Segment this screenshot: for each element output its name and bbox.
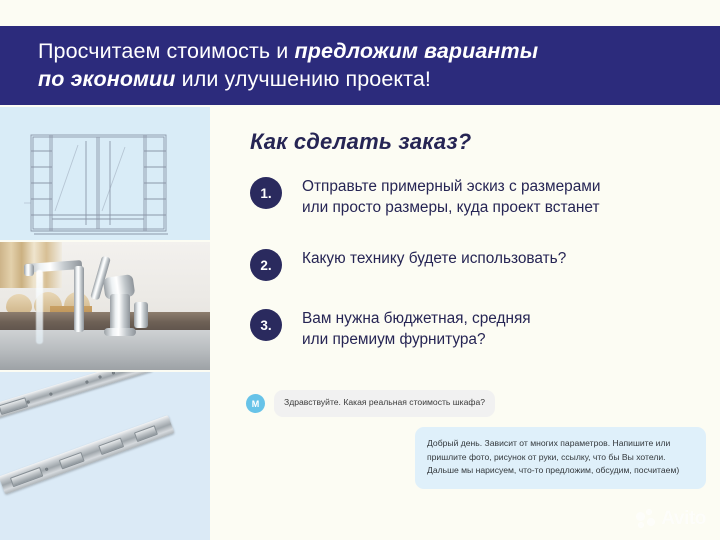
chat-conversation: M Здравствуйте. Какая реальная стоимость… (246, 390, 706, 489)
slide-canvas: Просчитаем стоимость и предложим вариант… (0, 0, 720, 540)
banner-line1-plain: Просчитаем стоимость и (38, 39, 294, 63)
chat-message-incoming: M Здравствуйте. Какая реальная стоимость… (246, 390, 706, 417)
banner-headline: Просчитаем стоимость и предложим вариант… (0, 38, 698, 93)
faucet-spout-tip (24, 264, 34, 276)
avatar: M (246, 394, 265, 413)
photo-drawer-slides (0, 372, 210, 540)
content-panel: Как сделать заказ? 1. Отправьте примерны… (210, 107, 720, 540)
faucet-side-outlet (134, 302, 148, 328)
photo-kitchen-faucet (0, 242, 210, 370)
drawer-slide-front (0, 415, 174, 494)
faucet-column (74, 266, 84, 332)
faucet-sink-basin (0, 330, 210, 370)
step-number-badge-3: 3. (250, 309, 282, 341)
banner-line1-bold: предложим варианты (294, 39, 538, 63)
banner-line2-plain: или улучшению проекта! (176, 67, 431, 91)
chat-bubble-outgoing: Добрый день. Зависит от многих параметро… (415, 427, 706, 490)
step-text-2: Какую технику будете использовать? (302, 247, 566, 270)
faucet-base-ring (104, 328, 136, 336)
step-number-badge-1: 1. (250, 177, 282, 209)
drawer-slide-rear (0, 372, 153, 419)
photo-wardrobe-sketch (0, 107, 210, 240)
step-text-3: Вам нужна бюджетная, средняя или премиум… (302, 307, 531, 350)
steps-list: 1. Отправьте примерный эскиз с размерами… (250, 175, 702, 351)
avito-logo-icon (636, 509, 657, 530)
avito-wordmark: Avito (661, 508, 706, 530)
avito-watermark: Avito (636, 508, 706, 530)
step-item-1: 1. Отправьте примерный эскиз с размерами… (250, 175, 702, 218)
step-item-2: 2. Какую технику будете использовать? (250, 247, 702, 281)
faucet-water-stream (36, 270, 43, 344)
photo-column (0, 107, 210, 540)
header-banner: Просчитаем стоимость и предложим вариант… (0, 26, 720, 105)
step-text-1: Отправьте примерный эскиз с размерами ил… (302, 175, 600, 218)
chat-message-outgoing: Добрый день. Зависит от многих параметро… (246, 427, 706, 490)
banner-line2-bold: по экономии (38, 67, 176, 91)
step-number-badge-2: 2. (250, 249, 282, 281)
page-title: Как сделать заказ? (250, 129, 471, 155)
wardrobe-sketch-drawing (0, 107, 210, 240)
step-item-3: 3. Вам нужна бюджетная, средняя или прем… (250, 307, 702, 350)
chat-bubble-incoming: Здравствуйте. Какая реальная стоимость ш… (274, 390, 495, 417)
